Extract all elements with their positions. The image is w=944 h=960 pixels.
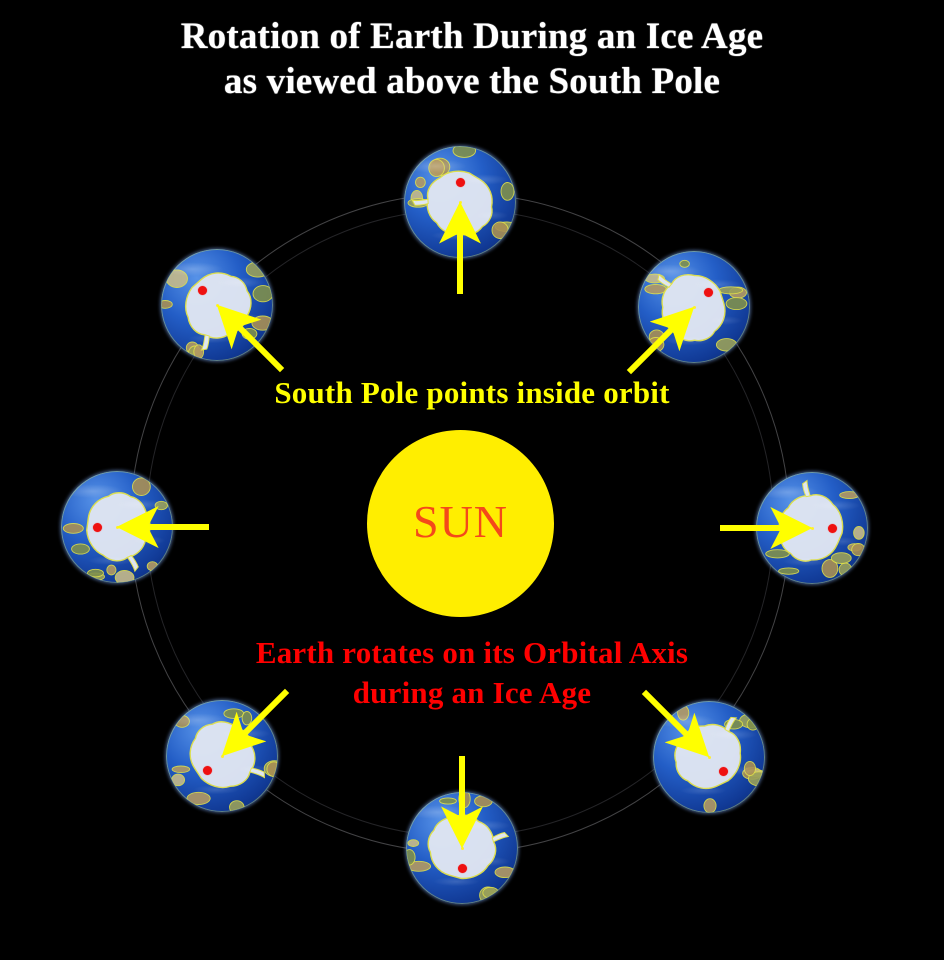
diagram-canvas: Rotation of Earth During an Ice Age as v… (0, 0, 944, 960)
orbital-axis-point-icon (116, 526, 119, 529)
geographic-pole-marker-icon (719, 767, 728, 776)
geographic-pole-marker-icon (93, 523, 102, 532)
orbital-axis-point-icon (459, 201, 462, 204)
earth-bottom-right (653, 701, 765, 813)
earth-bottom (406, 792, 518, 904)
caption-south-pole-points-inside-orbit: South Pole points inside orbit (0, 376, 944, 410)
orbital-axis-point-icon (708, 756, 711, 759)
earth-top-left (161, 249, 273, 361)
geographic-pole-marker-icon (704, 288, 713, 297)
orbital-axis-point-icon (216, 304, 219, 307)
orbital-axis-point-icon (811, 527, 814, 530)
sun-label: SUN (413, 495, 508, 548)
geographic-pole-marker-icon (458, 864, 467, 873)
geographic-pole-marker-icon (456, 178, 465, 187)
geographic-pole-marker-icon (828, 524, 837, 533)
geographic-pole-marker-icon (203, 766, 212, 775)
caption-red-line-2: during an Ice Age (0, 673, 944, 713)
orbital-axis-point-icon (461, 847, 464, 850)
earth-top (404, 146, 516, 258)
title-line-2: as viewed above the South Pole (0, 59, 944, 104)
caption-red-line-1: Earth rotates on its Orbital Axis (0, 633, 944, 673)
earth-right (756, 472, 868, 584)
earth-top-right (638, 251, 750, 363)
orbital-axis-point-icon (221, 755, 224, 758)
earth-bottom-left (166, 700, 278, 812)
orbital-axis-point-icon (693, 306, 696, 309)
caption-earth-rotates-orbital-axis: Earth rotates on its Orbital Axis during… (0, 633, 944, 712)
page-title: Rotation of Earth During an Ice Age as v… (0, 14, 944, 104)
title-line-1: Rotation of Earth During an Ice Age (0, 14, 944, 59)
sun-body: SUN (367, 430, 554, 617)
earth-left (61, 471, 173, 583)
